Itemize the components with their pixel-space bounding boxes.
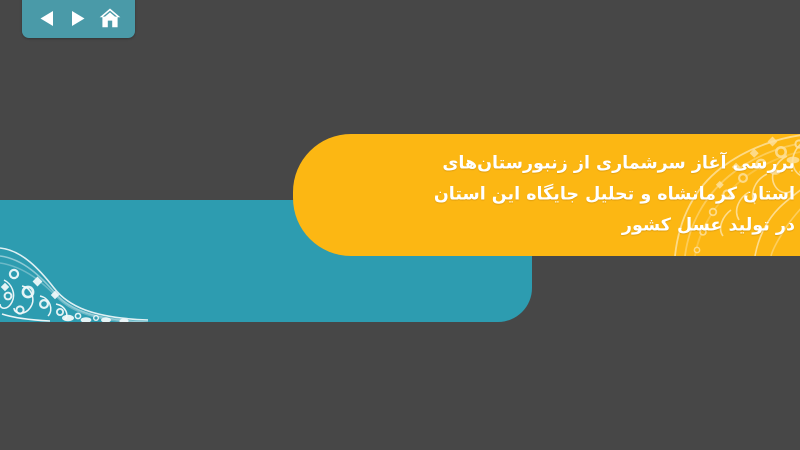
back-button[interactable]: [34, 6, 60, 30]
triangle-right-icon: [70, 10, 86, 27]
banner-title: بررسی آغاز سرشماری از زنبورستان‌های استا…: [315, 149, 795, 242]
slide-canvas: بررسی آغاز سرشماری از زنبورستان‌های استا…: [0, 0, 800, 450]
triangle-left-icon: [39, 10, 55, 27]
title-banner: بررسی آغاز سرشماری از زنبورستان‌های استا…: [293, 134, 800, 256]
title-line-3: در تولید عسل کشور: [315, 211, 795, 242]
home-icon: [99, 8, 121, 28]
forward-button[interactable]: [65, 6, 91, 30]
title-line-1: بررسی آغاز سرشماری از زنبورستان‌های: [315, 149, 795, 180]
arabesque-corner-ornament: [0, 230, 148, 322]
home-button[interactable]: [97, 6, 123, 30]
title-line-2: استان کرمانشاه و تحلیل جایگاه این استان: [315, 180, 795, 211]
navigation-bar: [22, 0, 135, 38]
